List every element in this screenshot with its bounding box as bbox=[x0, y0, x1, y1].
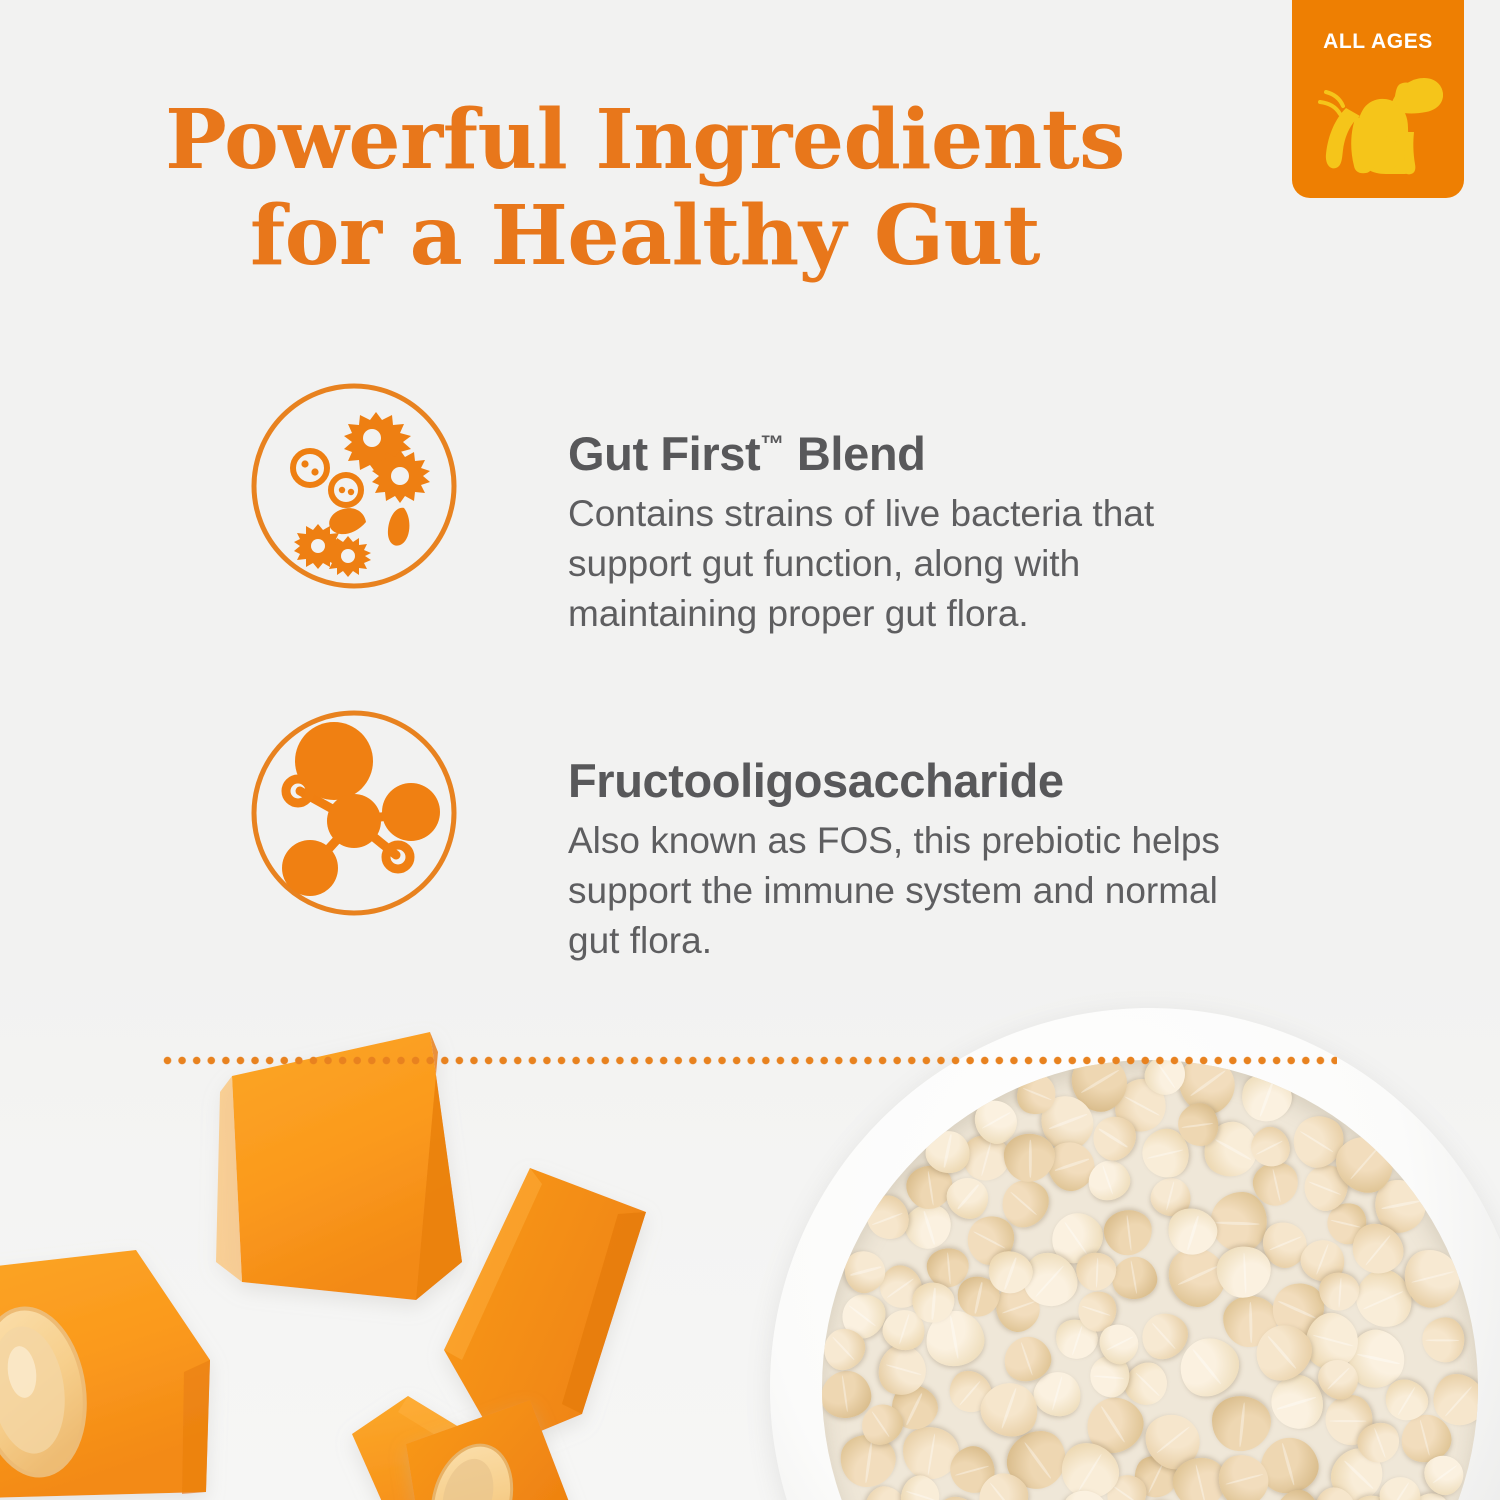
feature-text: Fructooligosaccharide Also known as FOS,… bbox=[460, 707, 1500, 966]
page-title: Powerful Ingredients for a Healthy Gut bbox=[0, 92, 1290, 284]
all-ages-badge: ALL AGES bbox=[1292, 0, 1464, 198]
feature-text: Gut First™ Blend Contains strains of liv… bbox=[460, 380, 1500, 639]
feature-heading-rest: Blend bbox=[784, 427, 925, 480]
feature-body: Also known as FOS, this prebiotic helps … bbox=[568, 816, 1268, 966]
feature-icon-wrap bbox=[0, 380, 460, 592]
chickpeas-cluster bbox=[822, 1060, 1478, 1500]
page-title-line-1: Powerful Ingredients bbox=[0, 92, 1290, 188]
feature-heading-main: Fructooligosaccharide bbox=[568, 754, 1064, 807]
feature-list: Gut First™ Blend Contains strains of liv… bbox=[0, 380, 1500, 966]
chickpea bbox=[1075, 1252, 1117, 1291]
chickpea bbox=[1216, 1246, 1272, 1299]
chickpea bbox=[1210, 1192, 1268, 1254]
butternut-squash-chunks-photo bbox=[0, 1000, 730, 1500]
chickpea bbox=[1235, 1067, 1299, 1129]
chickpea bbox=[1101, 1207, 1154, 1257]
chickpeas-bowl-photo bbox=[770, 1008, 1500, 1500]
ingredient-infographic: ALL AGES bbox=[0, 0, 1500, 1500]
feature-icon-wrap bbox=[0, 707, 460, 919]
bacteria-microbes-icon bbox=[248, 380, 460, 592]
trademark-symbol: ™ bbox=[760, 431, 784, 458]
molecule-icon bbox=[248, 707, 460, 919]
sitting-dog-icon bbox=[1312, 62, 1444, 180]
chickpea bbox=[1422, 1317, 1464, 1362]
chickpea bbox=[861, 1189, 915, 1245]
chickpea bbox=[1210, 1393, 1274, 1454]
feature-row-fructooligosaccharide: Fructooligosaccharide Also known as FOS,… bbox=[0, 707, 1500, 966]
chickpea bbox=[1004, 1134, 1055, 1182]
feature-row-gut-first-blend: Gut First™ Blend Contains strains of liv… bbox=[0, 380, 1500, 639]
dotted-divider bbox=[163, 1056, 1337, 1065]
chickpea bbox=[1109, 1254, 1160, 1303]
feature-heading: Fructooligosaccharide bbox=[568, 745, 1500, 808]
feature-body: Contains strains of live bacteria that s… bbox=[568, 489, 1268, 639]
badge-label: ALL AGES bbox=[1292, 30, 1464, 54]
feature-heading-main: Gut First bbox=[568, 427, 760, 480]
photo-band bbox=[0, 960, 1500, 1500]
bowl-interior bbox=[822, 1060, 1478, 1500]
feature-heading: Gut First™ Blend bbox=[568, 418, 1500, 481]
page-title-line-2: for a Healthy Gut bbox=[0, 188, 1290, 284]
